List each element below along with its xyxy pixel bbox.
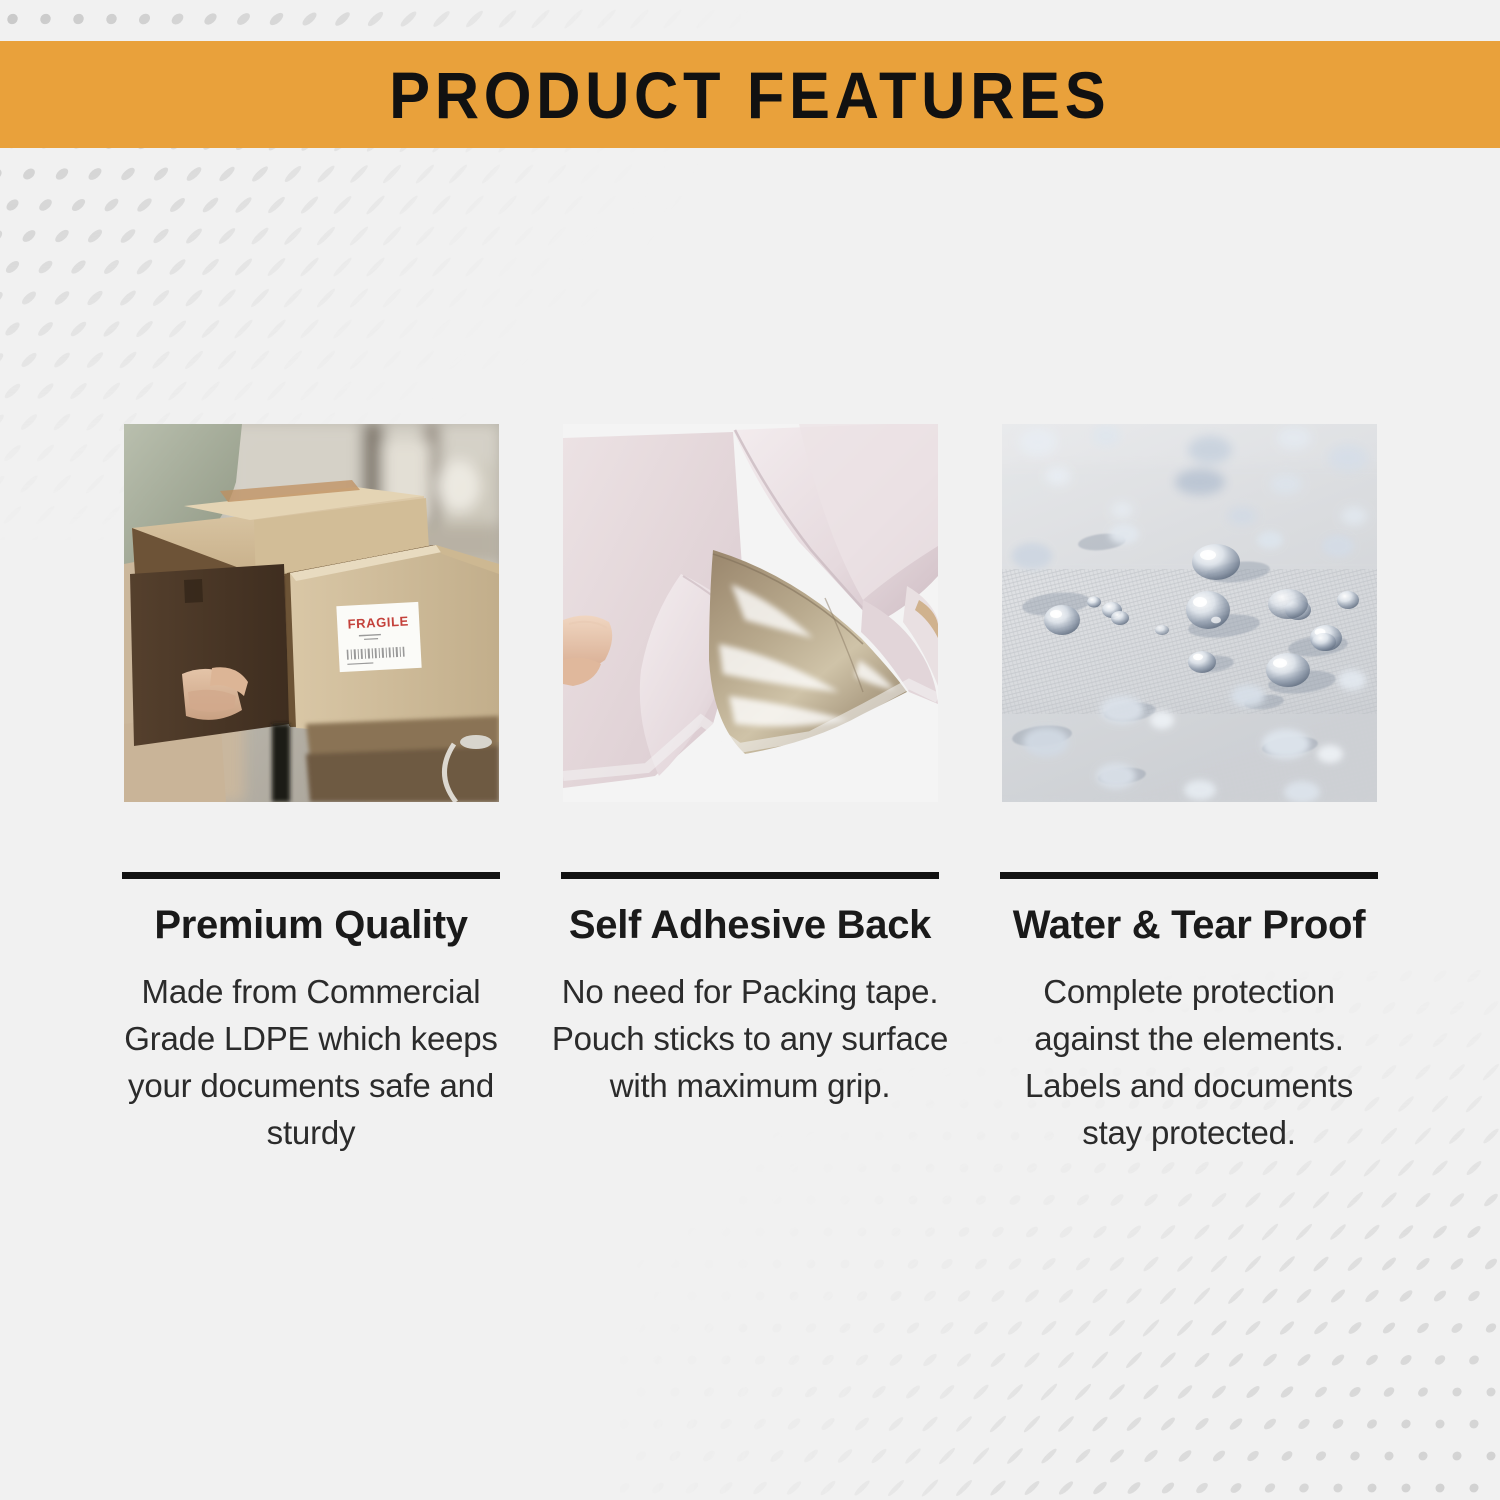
product-features-page: PRODUCT FEATURES [0, 0, 1500, 1500]
header-banner: PRODUCT FEATURES [0, 41, 1500, 148]
feature-heading: Water & Tear Proof [1013, 903, 1365, 947]
feature-body: Made from Commercial Grade LDPE which ke… [111, 969, 511, 1156]
feature-body: Complete protection against the elements… [999, 969, 1379, 1156]
feature-divider-rule [122, 872, 500, 879]
feature-heading: Premium Quality [154, 903, 467, 947]
feature-image-boxes: FRAGILE [124, 424, 499, 802]
feature-heading: Self Adhesive Back [569, 903, 931, 947]
page-title: PRODUCT FEATURES [389, 62, 1110, 128]
feature-image-water-droplets [1002, 424, 1377, 802]
feature-image-adhesive-peel [563, 424, 938, 802]
feature-card-self-adhesive-back: Self Adhesive Back No need for Packing t… [561, 424, 939, 1156]
feature-body: No need for Packing tape. Pouch sticks t… [550, 969, 950, 1110]
feature-card-water-tear-proof: Water & Tear Proof Complete protection a… [1000, 424, 1378, 1156]
svg-text:FRAGILE: FRAGILE [347, 613, 409, 631]
features-grid: FRAGILE [122, 424, 1378, 1156]
feature-card-premium-quality: FRAGILE [122, 424, 500, 1156]
feature-divider-rule [1000, 872, 1378, 879]
feature-divider-rule [561, 872, 939, 879]
